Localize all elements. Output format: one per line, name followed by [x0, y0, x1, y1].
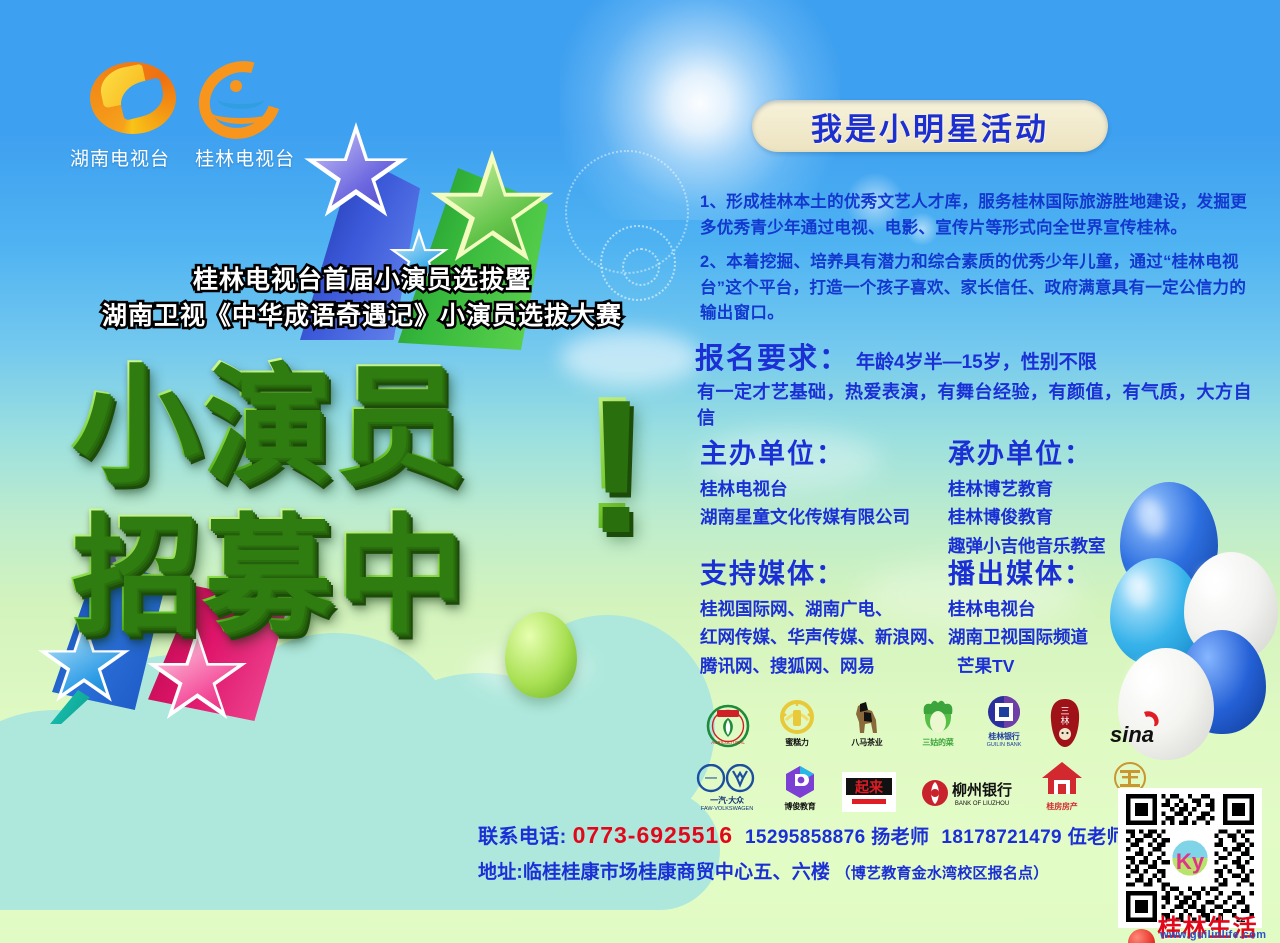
- sponsor-logo: 桂林银行 GUILIN BANK: [986, 694, 1022, 748]
- guilinlife-globe-icon: [1128, 929, 1155, 943]
- sponsor-caption: 三姑的菜: [922, 737, 953, 748]
- svg-text:柳州银行: 柳州银行: [952, 781, 1012, 799]
- watermark-url: www.guilinlife.com: [1160, 929, 1266, 941]
- svg-text:林: 林: [1060, 715, 1069, 726]
- sangudecai-cabbage-icon: [916, 698, 960, 736]
- sponsor-caption: 桂林银行: [988, 731, 1019, 742]
- contact-mobile-1: 15295858876 扬老师: [745, 827, 930, 848]
- organizer-item: 桂林电视台: [700, 475, 950, 503]
- contact-info: 联系电话: 0773-6925516 15295858876 扬老师 18178…: [478, 820, 1178, 884]
- sponsor-logo: 八马茶业: [844, 700, 890, 748]
- big-title-exclamation: !: [581, 354, 644, 572]
- sponsor-caption: 蜜糕力: [785, 737, 808, 748]
- bank-of-liuzhou-icon: 柳州银行 BANK OF LIUZHOU: [920, 778, 1016, 812]
- contact-address: 地址:临桂桂康市场桂康商贸中心五、六楼: [478, 862, 830, 883]
- support-media-block: 支持媒体： 桂视国际网、湖南广电、 红网传媒、华声传媒、新浪网、 腾讯网、搜狐网…: [700, 552, 960, 680]
- sponsor-caption: 桂房房产: [1046, 801, 1077, 812]
- co-organizer-heading: 承办单位：: [948, 432, 1198, 471]
- contact-landline: 0773-6925516: [573, 822, 733, 848]
- sponsor-logo: 蜜糕力: [776, 700, 818, 748]
- big-title: 小演员 招募中 !: [70, 350, 630, 660]
- intro-paragraphs: 1、形成桂林本土的优秀文艺人才库，服务桂林国际旅游胜地建设，发掘更多优秀青少年通…: [700, 190, 1260, 336]
- contact-address-note: （博艺教育金水湾校区报名点）: [836, 865, 1049, 882]
- guilin-tv-logo-icon: [198, 62, 282, 138]
- sponsor-logo: sina: [1108, 710, 1164, 748]
- sponsor-caption: 八马茶业: [851, 737, 882, 748]
- organizer-heading: 主办单位：: [700, 432, 950, 471]
- sponsor-caption: 博俊教育: [784, 801, 815, 812]
- tv-station-logos: 湖南电视台 桂林电视台: [70, 62, 330, 172]
- support-media-item: 桂视国际网、湖南广电、: [700, 595, 960, 623]
- migaoli-icon: [776, 700, 818, 736]
- big-title-row-1: 小演员: [70, 350, 630, 500]
- faw-volkswagen-icon: 一: [696, 764, 758, 794]
- svg-text:Ky: Ky: [1176, 849, 1205, 874]
- sponsor-logo: 起来: [842, 772, 896, 812]
- sina-weibo-icon: sina: [1108, 710, 1164, 748]
- intro-paragraph: 2、本着挖掘、培养具有潜力和综合素质的优秀少年儿童，通过“桂林电视台”这个平台，…: [700, 250, 1260, 327]
- poster-root: 湖南电视台 桂林电视台 桂林电视台首届小演员选拔暨 湖南卫视《中华成语奇遇记》小…: [0, 0, 1280, 943]
- tv-logo-captions: 湖南电视台 桂林电视台: [70, 144, 330, 171]
- qilai-icon: 起来: [842, 772, 896, 812]
- bojun-education-icon: [782, 764, 818, 800]
- svg-text:sina: sina: [1110, 722, 1154, 747]
- sponsor-logo: 三姑的菜: [916, 698, 960, 748]
- contact-mobile-2: 18178721479 伍老师: [941, 827, 1126, 848]
- svg-text:起来: 起来: [854, 779, 884, 795]
- headline-line-1: 桂林电视台首届小演员选拔暨: [52, 262, 672, 298]
- svg-text:三: 三: [1060, 706, 1069, 716]
- contact-label: 联系电话:: [478, 826, 567, 848]
- sanlin-icon: 三 林: [1048, 698, 1082, 748]
- svg-text:BANK OF LIUZHOU: BANK OF LIUZHOU: [955, 801, 1009, 807]
- sponsor-subcaption: FAW-VOLKSWAGEN: [701, 806, 753, 812]
- organizer-block: 主办单位： 桂林电视台 湖南星童文化传媒有限公司: [700, 432, 950, 532]
- requirements-subtext: 有一定才艺基础，热爱表演，有舞台经验，有颜值，有气质，大方自信: [697, 378, 1267, 430]
- big-title-row-2: 招募中: [70, 500, 630, 650]
- sponsor-logo: AGRICULTURAL: [706, 704, 750, 748]
- contact-address-line: 地址:临桂桂康市场桂康商贸中心五、六楼 （博艺教育金水湾校区报名点）: [478, 857, 1178, 884]
- intro-paragraph: 1、形成桂林本土的优秀文艺人才库，服务桂林国际旅游胜地建设，发掘更多优秀青少年通…: [700, 190, 1260, 241]
- qr-code[interactable]: Ky: [1118, 788, 1262, 928]
- support-media-item: 红网传媒、华声传媒、新浪网、: [700, 623, 960, 651]
- support-media-heading: 支持媒体：: [700, 552, 960, 591]
- headline-line-2: 湖南卫视《中华成语奇遇记》小演员选拔大赛: [52, 298, 672, 334]
- sponsor-logo: 三 林: [1048, 698, 1082, 748]
- requirements-value: 年龄4岁半—15岁，性别不限: [856, 347, 1097, 374]
- support-media-item: 腾讯网、搜狐网、网易: [700, 652, 960, 680]
- agricultural-bank-icon: AGRICULTURAL: [706, 704, 750, 748]
- sponsor-row-2: 一 一汽·大众 FAW-VOLKSWAGEN 博俊教育: [696, 760, 1152, 812]
- sponsor-caption: 一汽·大众: [710, 795, 744, 806]
- sponsor-subcaption: GUILIN BANK: [987, 742, 1022, 748]
- sponsor-row-1: AGRICULTURAL 蜜糕力: [706, 694, 1164, 748]
- hunan-tv-logo-icon: [90, 62, 176, 134]
- sponsor-logo: 桂房房产: [1040, 760, 1084, 812]
- guilin-tv-label: 桂林电视台: [195, 149, 295, 170]
- contact-phone-line: 联系电话: 0773-6925516 15295858876 扬老师 18178…: [478, 820, 1178, 849]
- organizer-item: 湖南星童文化传媒有限公司: [700, 503, 950, 531]
- watermark: 桂林生活网 www.guilinlife.com: [1128, 908, 1280, 943]
- campaign-title-text: 我是小明星活动: [811, 104, 1049, 149]
- hunan-tv-label: 湖南电视台: [70, 149, 170, 170]
- bamatea-horse-icon: [844, 700, 890, 736]
- sponsor-logo: 博俊教育: [782, 764, 818, 812]
- svg-text:一: 一: [704, 771, 717, 786]
- sponsor-logo: 柳州银行 BANK OF LIUZHOU: [920, 778, 1016, 812]
- headline: 桂林电视台首届小演员选拔暨 湖南卫视《中华成语奇遇记》小演员选拔大赛: [52, 262, 672, 335]
- guilin-bank-icon: [986, 694, 1022, 730]
- campaign-title-pill: 我是小明星活动: [752, 100, 1108, 152]
- requirements-label: 报名要求：: [695, 335, 850, 377]
- svg-text:AGRICULTURAL: AGRICULTURAL: [711, 740, 745, 745]
- requirements-line: 报名要求： 年龄4岁半—15岁，性别不限: [695, 335, 1265, 377]
- guifang-property-icon: [1040, 760, 1084, 800]
- sponsor-logo: 一 一汽·大众 FAW-VOLKSWAGEN: [696, 764, 758, 812]
- qr-code-image: Ky: [1124, 794, 1256, 922]
